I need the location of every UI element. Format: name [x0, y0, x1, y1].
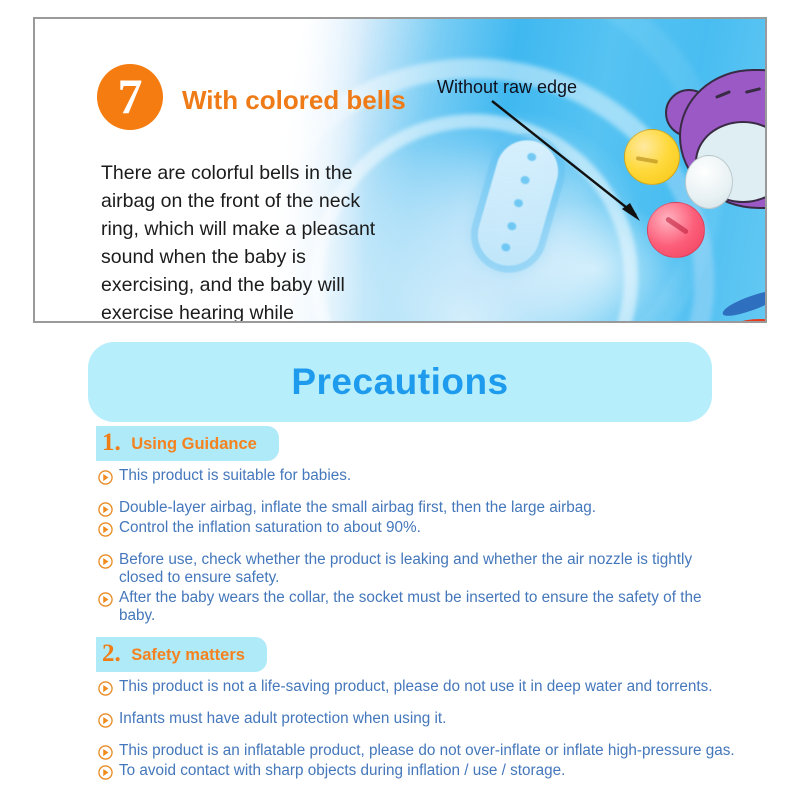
list-item-text: Double-layer airbag, inflate the small a…: [119, 499, 596, 517]
list-item: This product is not a life-saving produc…: [0, 678, 800, 696]
circle-arrow-icon: [98, 713, 113, 728]
photo-annotation-label: Without raw edge: [437, 77, 577, 98]
list-item-text: Before use, check whether the product is…: [119, 551, 739, 587]
list-item: Double-layer airbag, inflate the small a…: [0, 499, 800, 517]
feature-title: With colored bells: [182, 85, 406, 116]
bullet-list-2: This product is not a life-saving produc…: [0, 678, 800, 780]
section-number-1: 1.: [102, 429, 121, 456]
circle-arrow-icon: [98, 522, 113, 537]
list-item-text: After the baby wears the collar, the soc…: [119, 589, 739, 625]
list-item-text: Infants must have adult protection when …: [119, 710, 446, 728]
circle-arrow-icon: [98, 681, 113, 696]
precautions-banner: Precautions: [88, 342, 712, 422]
feature-description: There are colorful bells in the airbag o…: [101, 159, 391, 323]
list-item: Control the inflation saturation to abou…: [0, 519, 800, 537]
section-heading-2: 2. Safety matters: [96, 637, 267, 672]
circle-arrow-icon: [98, 502, 113, 517]
list-item-text: This product is not a life-saving produc…: [119, 678, 713, 696]
bell-pink: [647, 202, 705, 258]
annotation-arrow-icon: [490, 99, 650, 229]
section-number-2: 2.: [102, 640, 121, 667]
list-item: This product is suitable for babies.: [0, 467, 800, 485]
fish-graphic: [720, 289, 767, 320]
step-number-badge: 7: [97, 64, 163, 130]
list-item-text: This product is suitable for babies.: [119, 467, 351, 485]
list-item: This product is an inflatable product, p…: [0, 742, 800, 760]
list-item-text: Control the inflation saturation to abou…: [119, 519, 421, 537]
section-safety-matters: 2. Safety matters This product is not a …: [0, 637, 800, 787]
bullet-list-1: This product is suitable for babies. Dou…: [0, 467, 800, 625]
seam-dot: [500, 242, 511, 252]
bell-slit: [665, 216, 689, 235]
list-item: Infants must have adult protection when …: [0, 710, 800, 728]
section-label-2: Safety matters: [131, 646, 245, 664]
feature-panel: 7 With colored bells There are colorful …: [33, 17, 767, 323]
list-item-text: This product is an inflatable product, p…: [119, 742, 735, 760]
circle-arrow-icon: [98, 470, 113, 485]
section-label-1: Using Guidance: [131, 435, 257, 453]
red-graphic: [725, 319, 767, 323]
list-item: Before use, check whether the product is…: [0, 551, 800, 587]
section-using-guidance: 1. Using Guidance This product is suitab…: [0, 426, 800, 632]
list-item-text: To avoid contact with sharp objects duri…: [119, 762, 565, 780]
bell-white: [685, 155, 733, 209]
circle-arrow-icon: [98, 554, 113, 569]
circle-arrow-icon: [98, 745, 113, 760]
circle-arrow-icon: [98, 592, 113, 607]
list-item: After the baby wears the collar, the soc…: [0, 589, 800, 625]
list-item: To avoid contact with sharp objects duri…: [0, 762, 800, 780]
circle-arrow-icon: [98, 765, 113, 780]
section-heading-1: 1. Using Guidance: [96, 426, 279, 461]
precautions-title: Precautions: [88, 342, 712, 422]
